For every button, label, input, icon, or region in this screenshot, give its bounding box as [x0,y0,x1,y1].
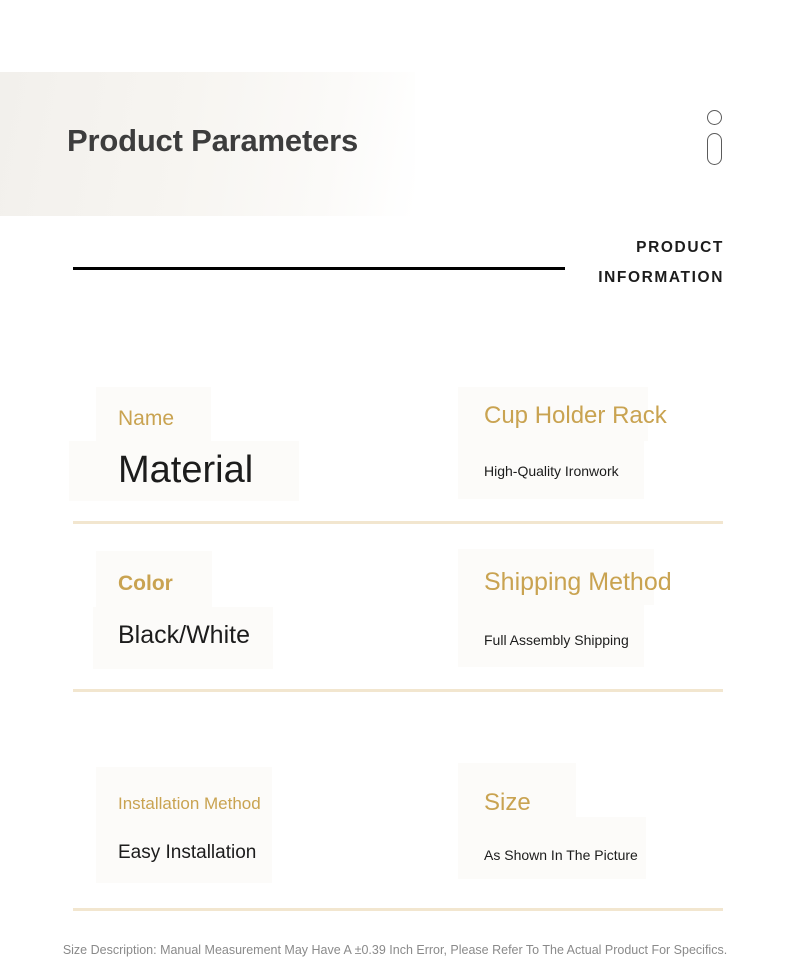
row-divider [73,689,723,692]
section-kicker-line-2: INFORMATION [464,263,724,293]
person-silhouette-icon [705,108,729,170]
spec-value: Material [118,429,395,489]
table-cell-right: Shipping Method Full Assembly Shipping [395,523,790,691]
page-title: Product Parameters [67,125,358,156]
spec-label: Shipping Method [484,523,790,595]
spec-label: Name [118,355,395,429]
spec-label: Size [484,743,790,815]
table-cell-left: Installation Method Easy Installation [0,743,395,911]
table-cell-left: Color Black/White [0,523,395,691]
table-cell-left: Name Material [0,355,395,523]
row-divider [73,908,723,911]
spec-label: Cup Holder Rack [484,355,790,428]
size-description-note: Size Description: Manual Measurement May… [0,942,790,958]
section-header: PRODUCT INFORMATION [0,230,790,305]
table-row: Installation Method Easy Installation Si… [0,743,790,911]
spec-value: As Shown In The Picture [484,815,790,862]
spec-value: Full Assembly Shipping [484,595,790,647]
spec-value: Black/White [118,594,395,648]
person-body-icon [707,133,722,165]
page-header: Product Parameters [0,0,790,230]
table-row: Name Material Cup Holder Rack High-Quali… [0,355,790,523]
spec-value: Easy Installation [118,812,395,862]
section-kicker-line-1: PRODUCT [464,233,724,263]
spec-label: Color [118,523,395,594]
table-cell-right: Cup Holder Rack High-Quality Ironwork [395,355,790,523]
person-head-icon [707,110,722,125]
spec-label: Installation Method [118,743,395,812]
table-row: Color Black/White Shipping Method Full A… [0,523,790,691]
section-kicker: PRODUCT INFORMATION [464,233,724,293]
product-parameters-table: Name Material Cup Holder Rack High-Quali… [0,355,790,911]
spec-value: High-Quality Ironwork [484,428,790,478]
table-cell-right: Size As Shown In The Picture [395,743,790,911]
